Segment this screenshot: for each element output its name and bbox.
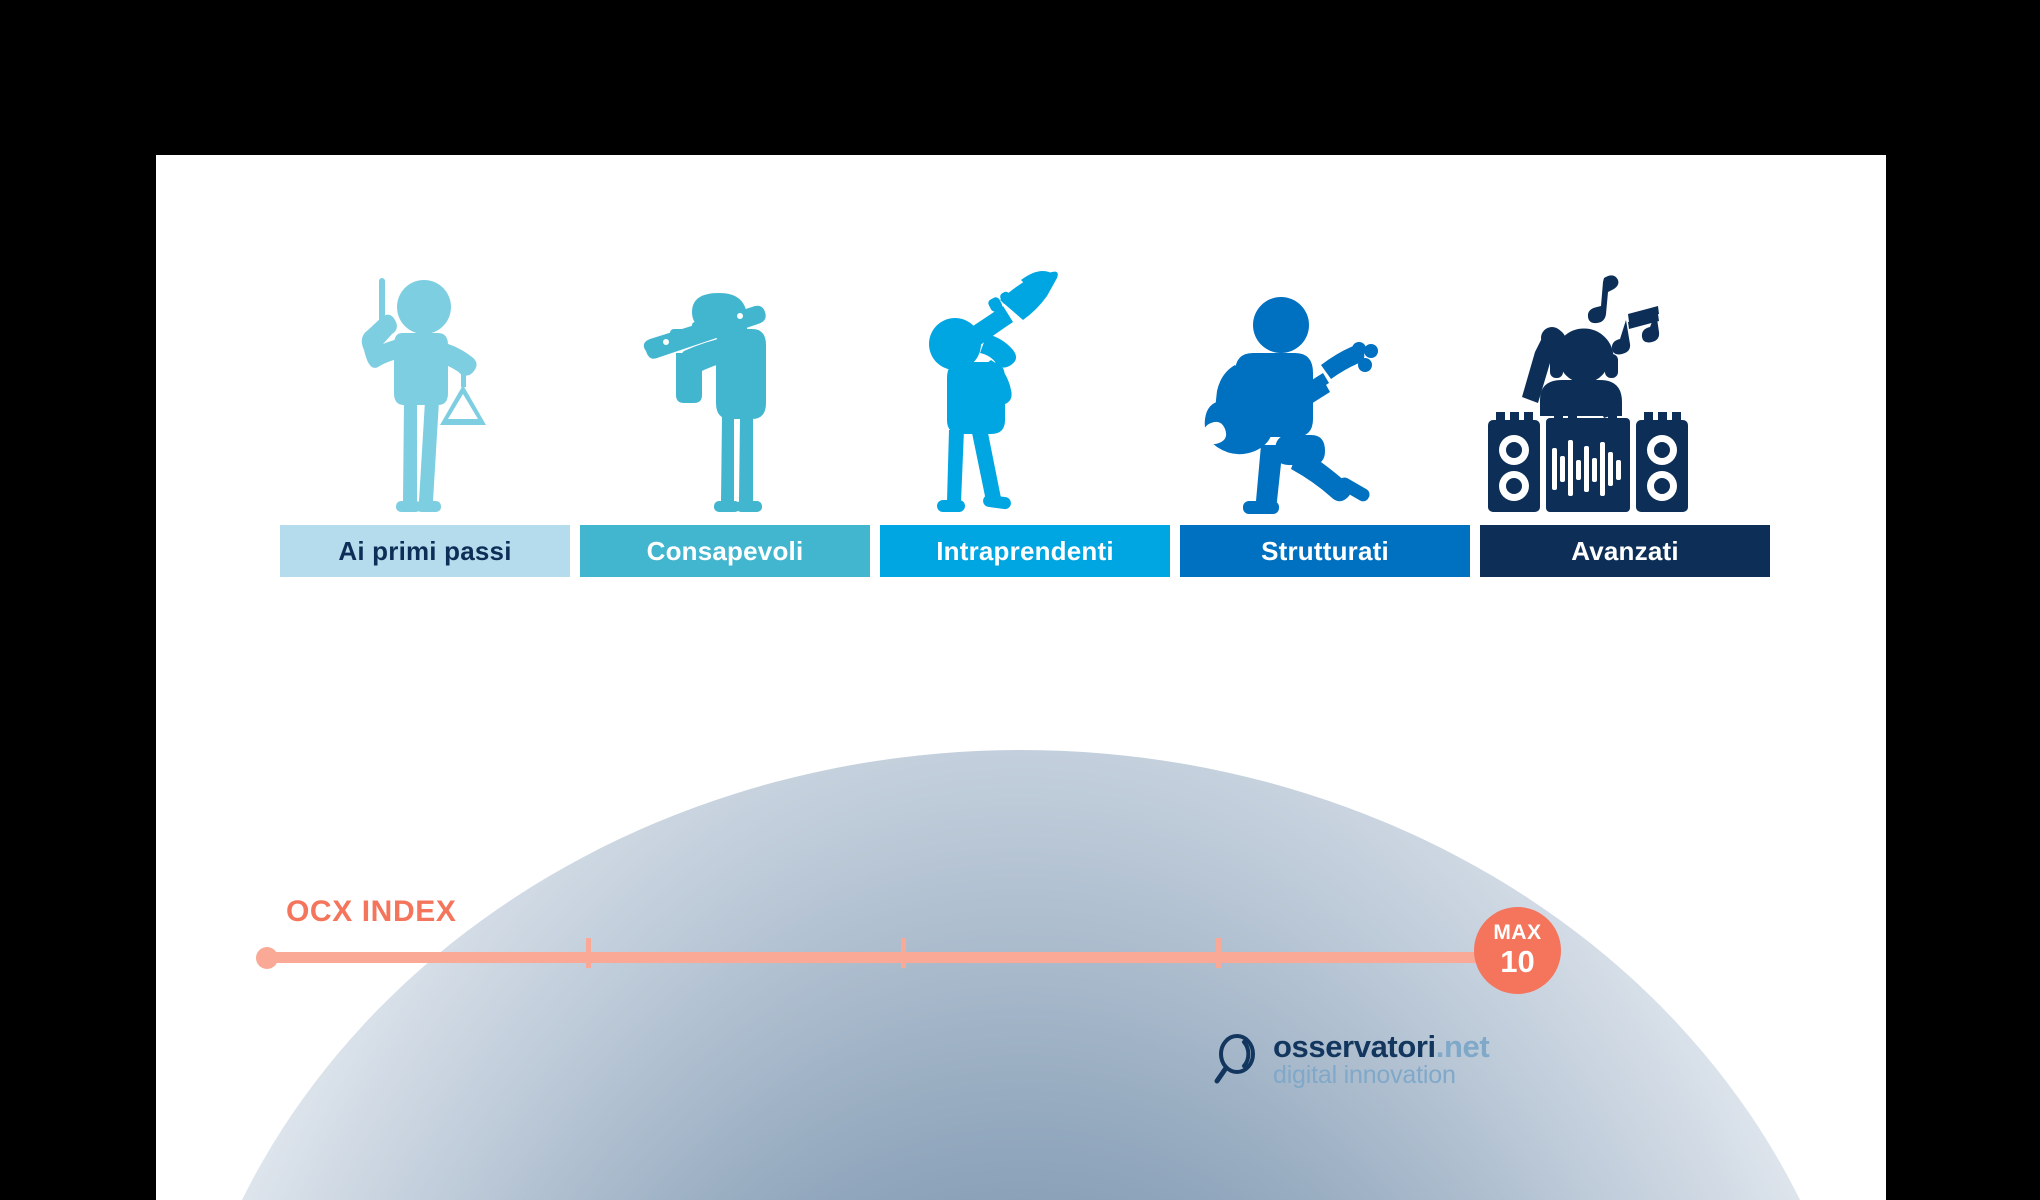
ocx-max-badge[interactable]: MAX 10 — [1474, 907, 1561, 994]
magnifier-icon — [1213, 1034, 1261, 1086]
ocx-axis-tick-1 — [586, 938, 591, 968]
ocx-index-title: OCX INDEX — [286, 895, 456, 929]
guitar-player-icon — [1203, 295, 1388, 520]
ocx-axis-tick-2 — [901, 938, 906, 968]
logo-primary-line: osservatori.net — [1273, 1031, 1489, 1062]
dj-deck-icon — [1478, 270, 1693, 520]
ocx-axis-line — [264, 952, 1554, 963]
ocx-max-value: 10 — [1500, 945, 1534, 979]
stage-label-strutturati[interactable]: Strutturati — [1180, 525, 1470, 577]
stage-label-consapevoli[interactable]: Consapevoli — [580, 525, 870, 577]
logo-suffix: .net — [1436, 1029, 1490, 1064]
trumpet-player-icon — [925, 270, 1085, 520]
stage-figure-2 — [570, 230, 860, 520]
stage-label-text: Ai primi passi — [338, 536, 511, 567]
ocx-axis-start-dot — [256, 947, 278, 969]
stage-label-text: Consapevoli — [647, 536, 804, 567]
screenshot-canvas: Ai primi passi Consapevoli Intraprendent… — [0, 0, 2040, 1200]
logo-name: osservatori — [1273, 1029, 1436, 1064]
stage-label-text: Avanzati — [1571, 536, 1679, 567]
ocx-max-label: MAX — [1493, 922, 1541, 943]
triangle-player-icon — [350, 275, 500, 520]
stage-figure-3 — [860, 230, 1150, 520]
flute-player-icon — [640, 285, 790, 520]
ocx-index-block: OCX INDEX MAX 10 — [156, 895, 1886, 1025]
maturity-figures-row — [280, 230, 1770, 520]
osservatori-logo[interactable]: osservatori.net digital innovation — [1213, 1031, 1489, 1088]
stage-label-text: Strutturati — [1261, 536, 1389, 567]
logo-text: osservatori.net digital innovation — [1273, 1031, 1489, 1088]
stage-label-ai-primi-passi[interactable]: Ai primi passi — [280, 525, 570, 577]
ocx-index-axis: MAX 10 — [256, 947, 1716, 965]
stage-label-text: Intraprendenti — [936, 536, 1114, 567]
stage-figure-1 — [280, 230, 570, 520]
logo-tagline: digital innovation — [1273, 1063, 1489, 1088]
maturity-labels-row: Ai primi passi Consapevoli Intraprendent… — [280, 525, 1770, 577]
stage-label-intraprendenti[interactable]: Intraprendenti — [880, 525, 1170, 577]
stage-figure-5 — [1440, 230, 1730, 520]
ocx-axis-tick-3 — [1216, 938, 1221, 968]
stage-figure-4 — [1150, 230, 1440, 520]
slide: Ai primi passi Consapevoli Intraprendent… — [156, 155, 1886, 1200]
stage-label-avanzati[interactable]: Avanzati — [1480, 525, 1770, 577]
